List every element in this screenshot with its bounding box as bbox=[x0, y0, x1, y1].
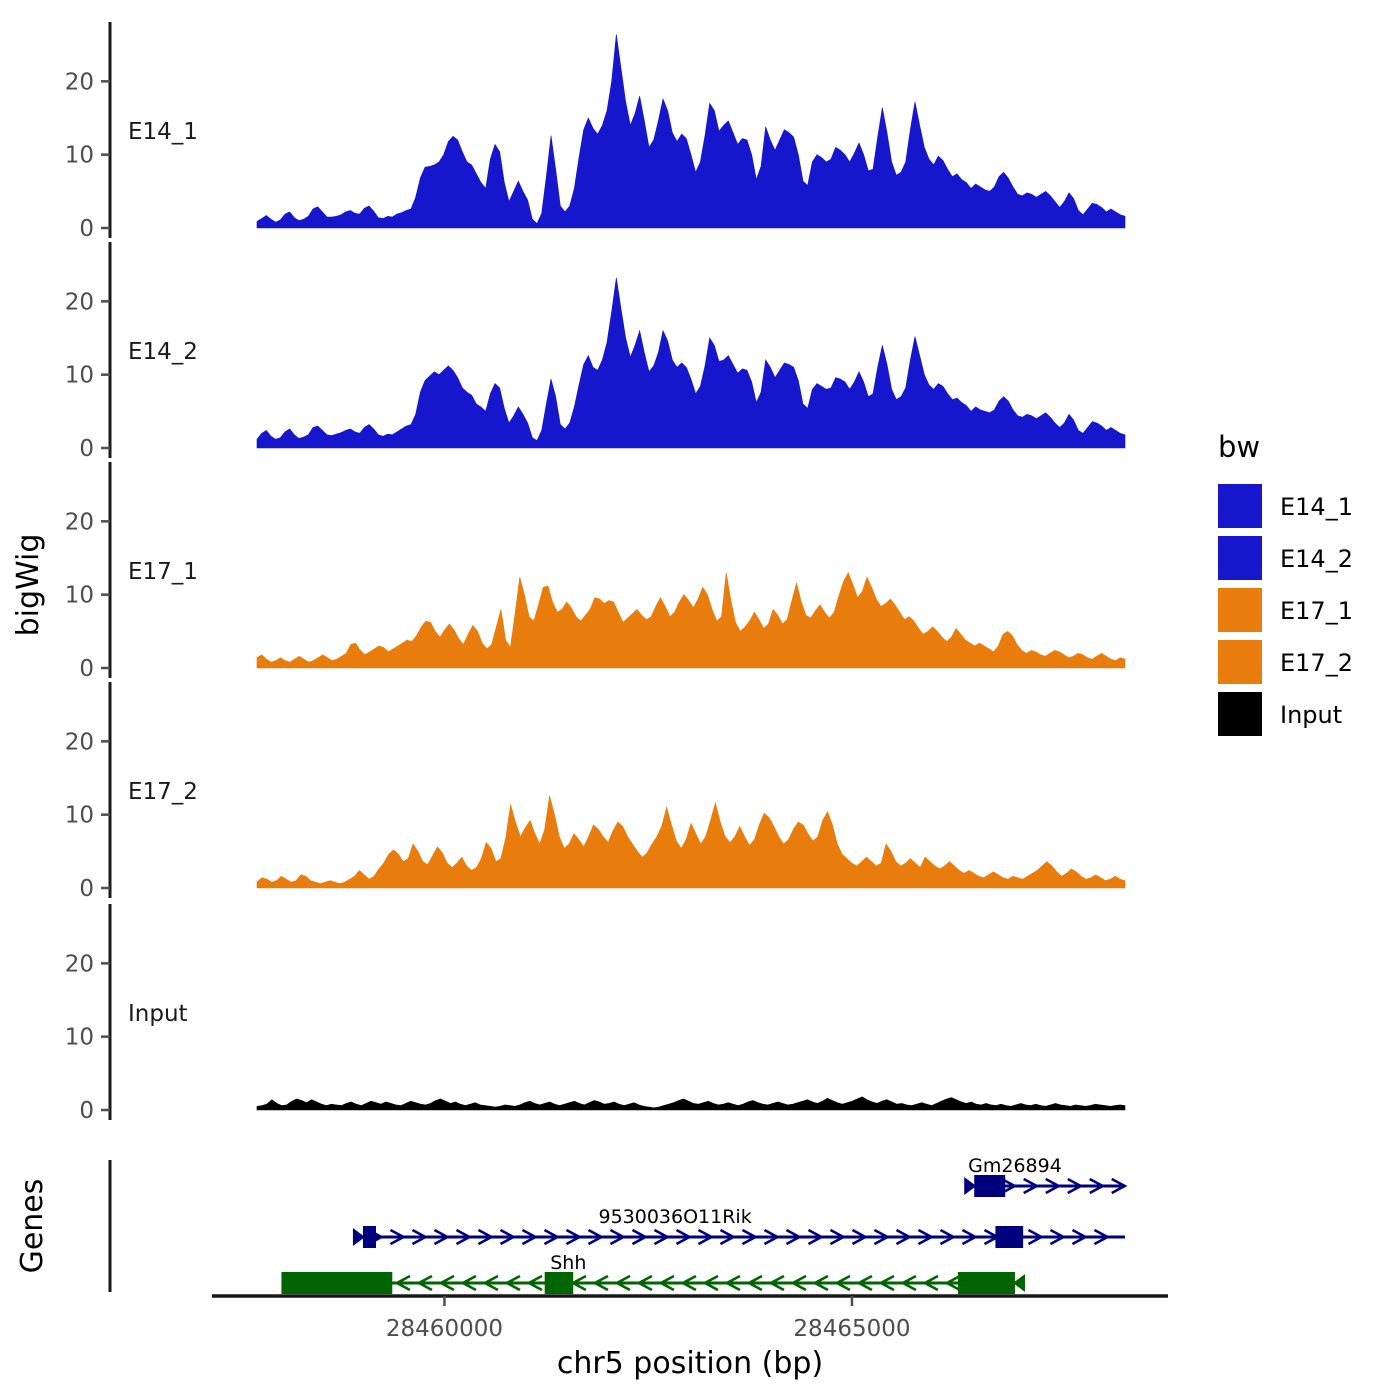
x-tick-label-28460000: 28460000 bbox=[386, 1316, 503, 1342]
gene-label-gm26894: Gm26894 bbox=[968, 1155, 1062, 1177]
x-axis-title: chr5 position (bp) bbox=[557, 1346, 823, 1381]
track-area-e14_1 bbox=[257, 34, 1125, 228]
y-tick-label-e17_1-0: 0 bbox=[79, 656, 94, 682]
track-area-e17_2 bbox=[257, 796, 1125, 888]
y-tick-label-e14_1-10: 10 bbox=[65, 143, 94, 169]
track-label-e17_1: E17_1 bbox=[128, 559, 198, 585]
y-tick-label-e14_1-20: 20 bbox=[65, 69, 94, 95]
y-tick-label-e14_1-0: 0 bbox=[79, 216, 94, 242]
track-label-e17_2: E17_2 bbox=[128, 779, 198, 805]
legend-swatch-e14_2[interactable] bbox=[1218, 536, 1262, 580]
track-label-input: Input bbox=[128, 1001, 188, 1027]
track-label-e14_1: E14_1 bbox=[128, 119, 198, 145]
legend-label-e17_2: E17_2 bbox=[1280, 649, 1353, 677]
genes-axis-title: Genes bbox=[15, 1179, 50, 1274]
y-tick-label-e17_1-10: 10 bbox=[65, 583, 94, 609]
legend-title: bw bbox=[1218, 430, 1260, 464]
gene-exon-9530036o11rik-1 bbox=[995, 1226, 1023, 1248]
y-tick-label-e17_1-20: 20 bbox=[65, 509, 94, 535]
gene-exon-gm26894-0 bbox=[974, 1175, 1005, 1197]
x-tick-label-28465000: 28465000 bbox=[793, 1316, 910, 1342]
gene-exon-shh-2 bbox=[958, 1272, 1015, 1294]
gene-label-shh: Shh bbox=[550, 1252, 586, 1274]
legend-label-e14_1: E14_1 bbox=[1280, 493, 1353, 521]
y-tick-label-e14_2-20: 20 bbox=[65, 289, 94, 315]
track-label-e14_2: E14_2 bbox=[128, 339, 198, 365]
y-tick-label-input-10: 10 bbox=[65, 1025, 94, 1051]
y-tick-label-input-20: 20 bbox=[65, 951, 94, 977]
genome-browser-figure: 01020E14_101020E14_201020E17_101020E17_2… bbox=[0, 0, 1400, 1400]
gene-exon-shh-0 bbox=[281, 1272, 392, 1294]
legend-swatch-e14_1[interactable] bbox=[1218, 484, 1262, 528]
y-tick-label-e17_2-10: 10 bbox=[65, 803, 94, 829]
y-tick-label-input-0: 0 bbox=[79, 1098, 94, 1124]
legend-swatch-e17_1[interactable] bbox=[1218, 588, 1262, 632]
track-area-e17_1 bbox=[257, 573, 1125, 668]
track-area-e14_2 bbox=[257, 278, 1125, 448]
gene-label-9530036o11rik: 9530036O11Rik bbox=[598, 1206, 751, 1228]
legend-swatch-input[interactable] bbox=[1218, 692, 1262, 736]
track-area-input bbox=[257, 1097, 1125, 1110]
y-tick-label-e14_2-10: 10 bbox=[65, 363, 94, 389]
y-tick-label-e14_2-0: 0 bbox=[79, 436, 94, 462]
legend-label-input: Input bbox=[1280, 701, 1342, 729]
y-tick-label-e17_2-20: 20 bbox=[65, 729, 94, 755]
y-axis-title: bigWig bbox=[11, 534, 46, 637]
figure-canvas: 01020E14_101020E14_201020E17_101020E17_2… bbox=[0, 0, 1400, 1400]
legend-label-e14_2: E14_2 bbox=[1280, 545, 1353, 573]
legend-swatch-e17_2[interactable] bbox=[1218, 640, 1262, 684]
gene-exon-shh-1 bbox=[545, 1272, 574, 1294]
y-tick-label-e17_2-0: 0 bbox=[79, 876, 94, 902]
legend-label-e17_1: E17_1 bbox=[1280, 597, 1353, 625]
